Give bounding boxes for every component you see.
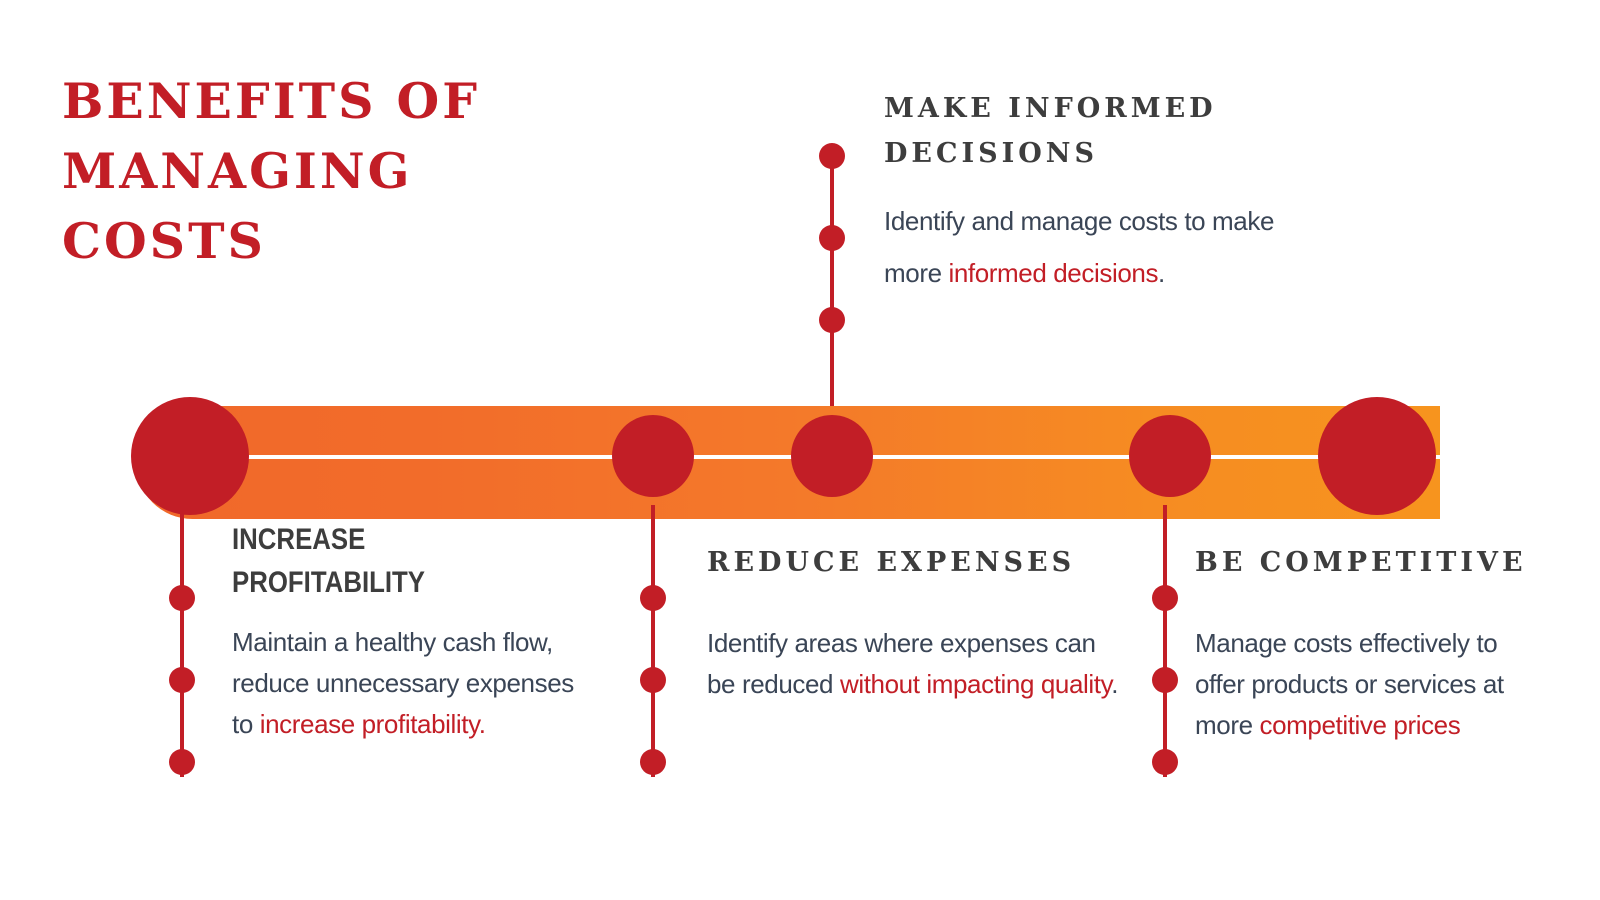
connector-dot <box>640 585 666 611</box>
plain-text: . <box>1111 669 1118 699</box>
callout-make-informed-decisions: MAKE INFORMED DECISIONS Identify and man… <box>884 86 1284 299</box>
highlight-text: without impacting quality <box>840 669 1111 699</box>
highlight-text: increase profitability. <box>260 709 486 739</box>
callout-increase-profitability: INCREASE PROFITABILITY Maintain a health… <box>232 518 592 745</box>
body-increase-profitability: Maintain a healthy cash flow, reduce unn… <box>232 622 592 745</box>
highlight-text: informed decisions <box>948 258 1158 288</box>
connector-dot <box>819 225 845 251</box>
connector-stem <box>830 146 834 408</box>
connector-stem <box>180 505 184 777</box>
connector-dot <box>819 143 845 169</box>
connector-chain-reduce-expenses <box>651 505 655 777</box>
connector-dot <box>169 749 195 775</box>
connector-dot <box>640 749 666 775</box>
body-reduce-expenses: Identify areas where expenses can be red… <box>707 623 1127 705</box>
connector-dot <box>1152 749 1178 775</box>
connector-stem <box>1163 505 1167 777</box>
connector-dot <box>640 667 666 693</box>
body-be-competitive: Manage costs effectively to offer produc… <box>1195 623 1540 746</box>
plain-text: . <box>1158 258 1165 288</box>
heading-reduce-expenses: REDUCE EXPENSES <box>707 540 1127 585</box>
page-title: BENEFITS OF MANAGING COSTS <box>62 66 582 276</box>
highlight-text: competitive prices <box>1259 710 1460 740</box>
connector-chain-increase-profitability <box>180 505 184 777</box>
node-end-cap[interactable] <box>1318 397 1436 515</box>
body-make-informed-decisions: Identify and manage costs to make more i… <box>884 195 1284 299</box>
connector-dot <box>169 667 195 693</box>
timeline-bar-fill <box>136 406 1440 519</box>
heading-be-competitive: BE COMPETITIVE <box>1195 540 1540 585</box>
connector-stem <box>651 505 655 777</box>
connector-dot <box>819 307 845 333</box>
connector-dot <box>169 585 195 611</box>
connector-dot <box>1152 667 1178 693</box>
connector-chain-be-competitive <box>1163 505 1167 777</box>
heading-make-informed-decisions: MAKE INFORMED DECISIONS <box>884 86 1284 176</box>
timeline-midline <box>136 455 1440 459</box>
connector-chain-make-informed-decisions <box>830 146 834 408</box>
timeline-bar <box>136 406 1440 519</box>
node-reduce-expenses[interactable] <box>612 415 694 497</box>
callout-be-competitive: BE COMPETITIVE Manage costs effectively … <box>1195 540 1540 746</box>
node-increase-profitability[interactable] <box>131 397 249 515</box>
callout-reduce-expenses: REDUCE EXPENSES Identify areas where exp… <box>707 540 1127 705</box>
node-be-competitive[interactable] <box>1129 415 1211 497</box>
connector-dot <box>1152 585 1178 611</box>
node-make-informed-decisions[interactable] <box>791 415 873 497</box>
heading-increase-profitability: INCREASE PROFITABILITY <box>232 518 542 604</box>
